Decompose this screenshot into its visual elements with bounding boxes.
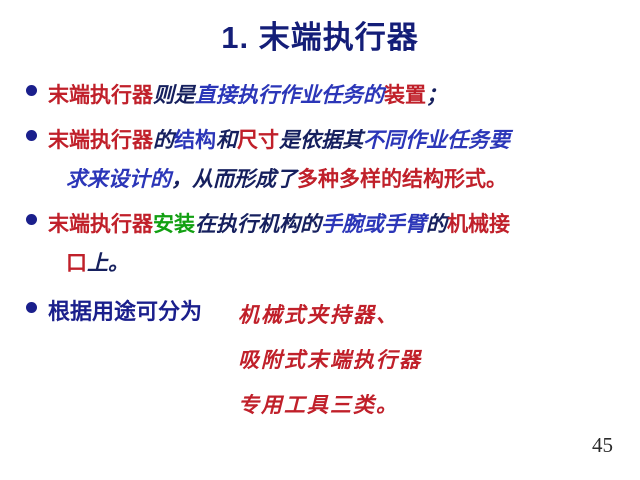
bullet-line-continued: 口上。: [26, 244, 622, 283]
bullet-item-3: 末端执行器安装在执行机构的手腕或手臂的机械接 口上。: [26, 205, 622, 283]
list-item: 吸附式末端执行器: [238, 338, 622, 383]
text-run: 末端执行器: [48, 84, 153, 107]
text-run: 口: [66, 252, 87, 275]
text-run: 装置: [384, 84, 426, 107]
text-run: 手腕或手臂: [321, 212, 426, 236]
bullet-line: 根据用途可分为 机械式夹持器、 吸附式末端执行器 专用工具三类。: [26, 293, 622, 428]
text-run: 末端执行器: [48, 213, 153, 236]
text-run: 结构: [174, 129, 216, 152]
text-run: ，从而形成了: [171, 167, 297, 191]
bullet-item-1: 末端执行器则是直接执行作业任务的装置；: [26, 76, 622, 115]
classification-label: 根据用途可分为: [48, 293, 202, 331]
text-run: 和: [216, 128, 237, 152]
bullet-line-continued: 求来设计的，从而形成了多种多样的结构形式。: [26, 160, 622, 199]
text-run: 的: [153, 128, 174, 152]
text-run: 是依据其: [279, 128, 363, 152]
bullet-item-2: 末端执行器的结构和尺寸是依据其不同作业任务要 求来设计的，从而形成了多种多样的结…: [26, 121, 622, 199]
text-run: 不同作业任务要: [363, 128, 510, 152]
page-number: 45: [592, 433, 613, 458]
text-run: 上。: [87, 251, 129, 275]
bullet-line: 末端执行器的结构和尺寸是依据其不同作业任务要: [26, 121, 622, 160]
classification-list: 机械式夹持器、 吸附式末端执行器 专用工具三类。: [202, 293, 622, 428]
bullet-item-4: 根据用途可分为 机械式夹持器、 吸附式末端执行器 专用工具三类。: [26, 293, 622, 428]
text-run: 安装: [153, 213, 195, 236]
bullet-dot-icon: [26, 302, 37, 313]
text-run: 机械接: [447, 213, 510, 236]
text-run: 求来设计的: [66, 167, 171, 191]
text-run: 直接执行作业任务的: [195, 83, 384, 107]
text-run: 则是: [153, 83, 195, 107]
bullet-line: 末端执行器则是直接执行作业任务的装置；: [26, 76, 622, 115]
text-run: 在执行机构的: [195, 212, 321, 236]
text-run: 末端执行器: [48, 129, 153, 152]
bullet-dot-icon: [26, 85, 37, 96]
text-run: 尺寸: [237, 129, 279, 152]
slide-canvas: 1. 末端执行器 末端执行器则是直接执行作业任务的装置； 末端执行器的结构和尺寸…: [0, 0, 640, 480]
page-title: 1. 末端执行器: [0, 12, 640, 57]
bullet-dot-icon: [26, 130, 37, 141]
list-item: 机械式夹持器、: [238, 293, 622, 338]
list-item: 专用工具三类。: [238, 383, 622, 428]
text-run: 多种多样的结构形式。: [297, 168, 507, 191]
bullet-line: 末端执行器安装在执行机构的手腕或手臂的机械接: [26, 205, 622, 244]
text-run: ；: [426, 83, 447, 107]
text-run: 的: [426, 212, 447, 236]
bullet-dot-icon: [26, 214, 37, 225]
slide-body: 末端执行器则是直接执行作业任务的装置； 末端执行器的结构和尺寸是依据其不同作业任…: [26, 76, 622, 434]
